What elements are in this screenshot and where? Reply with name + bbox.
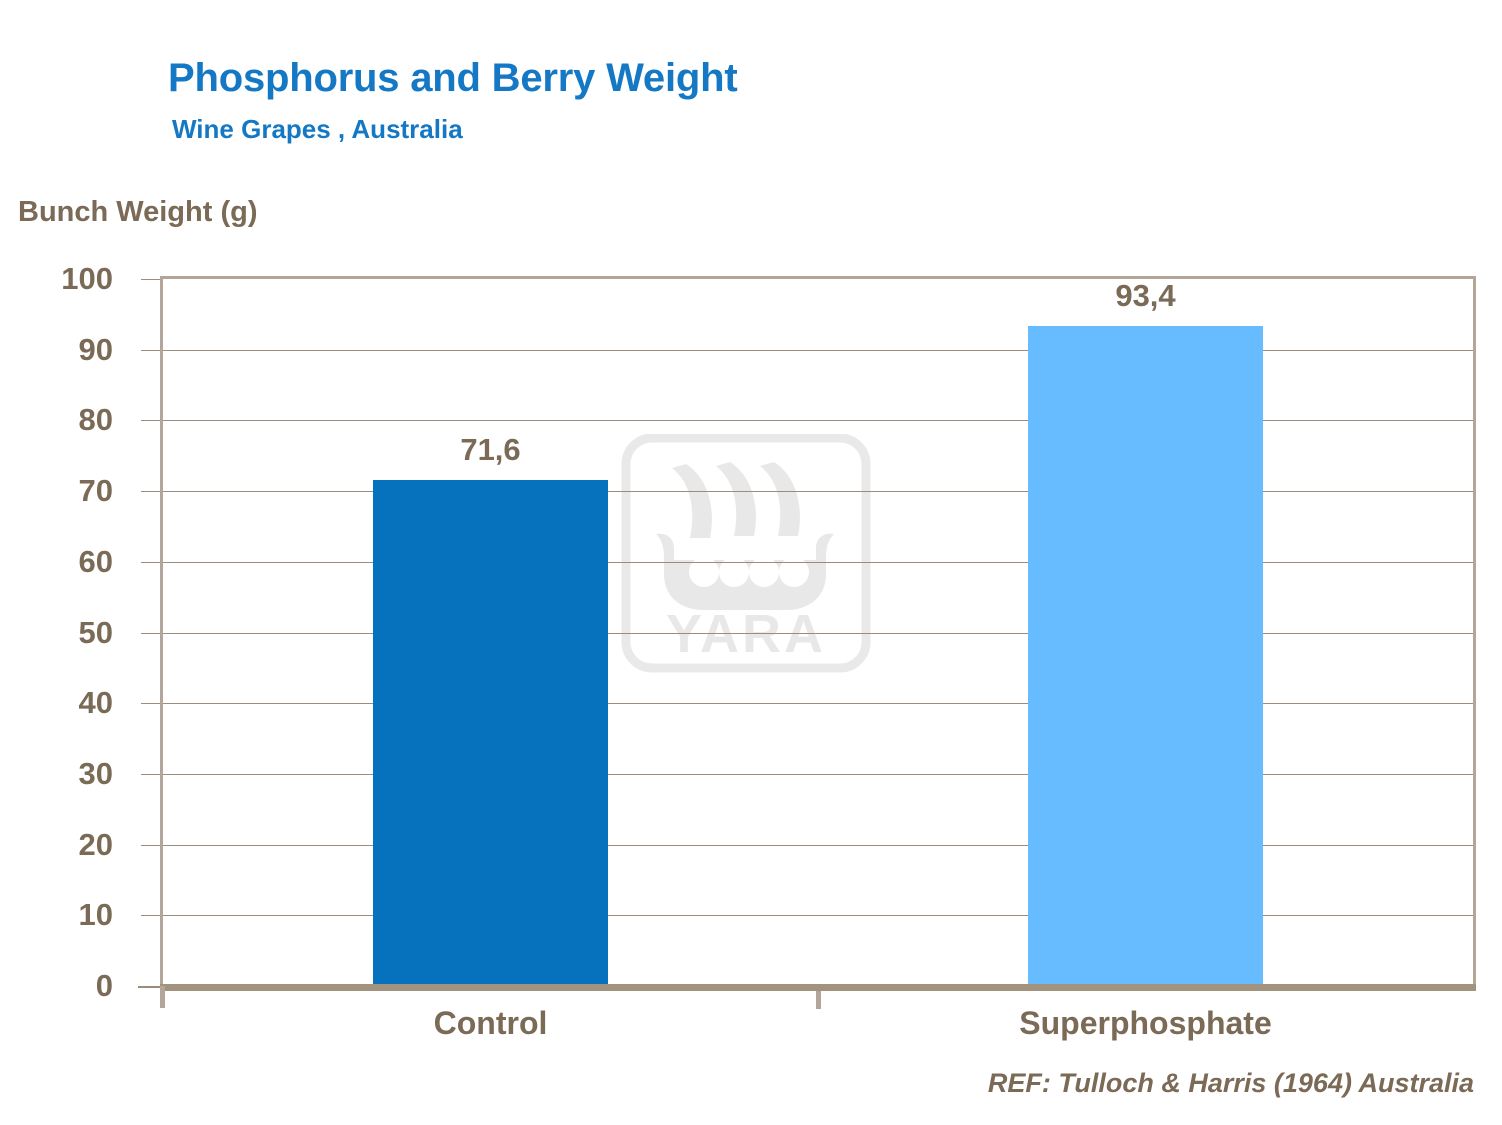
gridline xyxy=(163,915,1473,916)
gridline xyxy=(163,774,1473,775)
y-axis-tick xyxy=(141,562,160,563)
chart-page: Phosphorus and Berry Weight Wine Grapes … xyxy=(0,0,1502,1125)
gridline xyxy=(163,633,1473,634)
gridline xyxy=(163,350,1473,351)
bar-value-label: 93,4 xyxy=(1115,278,1175,314)
gridline xyxy=(163,420,1473,421)
y-axis-tick-label: 100 xyxy=(3,261,113,297)
y-axis-tick xyxy=(141,350,160,351)
bar-superphosphate[interactable] xyxy=(1028,326,1263,986)
y-axis-tick xyxy=(141,703,160,704)
y-axis-tick-label: 40 xyxy=(3,685,113,721)
y-axis-tick-label: 80 xyxy=(3,402,113,438)
y-axis-tick xyxy=(141,915,160,916)
x-axis-baseline xyxy=(160,984,1476,991)
category-label-control: Control xyxy=(434,1005,548,1042)
category-divider-tick xyxy=(816,991,821,1009)
y-axis-tick-label: 30 xyxy=(3,756,113,792)
y-axis-tick xyxy=(141,420,160,421)
category-label-superphosphate: Superphosphate xyxy=(1019,1005,1271,1042)
y-axis-tick-label: 10 xyxy=(3,897,113,933)
y-axis-tick xyxy=(141,279,160,280)
gridline xyxy=(163,703,1473,704)
y-axis-tick-label: 60 xyxy=(3,544,113,580)
bar-value-label: 71,6 xyxy=(460,432,520,468)
y-axis-tick-label: 90 xyxy=(3,332,113,368)
plot-inner: 100908070605040302010071,693,4 xyxy=(163,279,1473,986)
chart-title: Phosphorus and Berry Weight xyxy=(168,56,737,101)
axis-left-stub xyxy=(138,986,160,988)
y-axis-tick-label: 0 xyxy=(3,968,113,1004)
gridline xyxy=(163,845,1473,846)
y-axis-tick-label: 20 xyxy=(3,827,113,863)
y-axis-tick-label: 70 xyxy=(3,473,113,509)
y-axis-tick xyxy=(141,774,160,775)
gridline xyxy=(163,562,1473,563)
y-axis-tick xyxy=(141,633,160,634)
y-axis-foot xyxy=(160,986,165,1008)
y-axis-tick xyxy=(141,491,160,492)
bar-control[interactable] xyxy=(373,480,608,986)
y-axis-tick-label: 50 xyxy=(3,615,113,651)
gridline xyxy=(163,491,1473,492)
y-axis-tick xyxy=(141,845,160,846)
reference-note: REF: Tulloch & Harris (1964) Australia xyxy=(988,1068,1474,1099)
chart-subtitle: Wine Grapes , Australia xyxy=(172,114,463,145)
y-axis-title: Bunch Weight (g) xyxy=(18,196,257,229)
